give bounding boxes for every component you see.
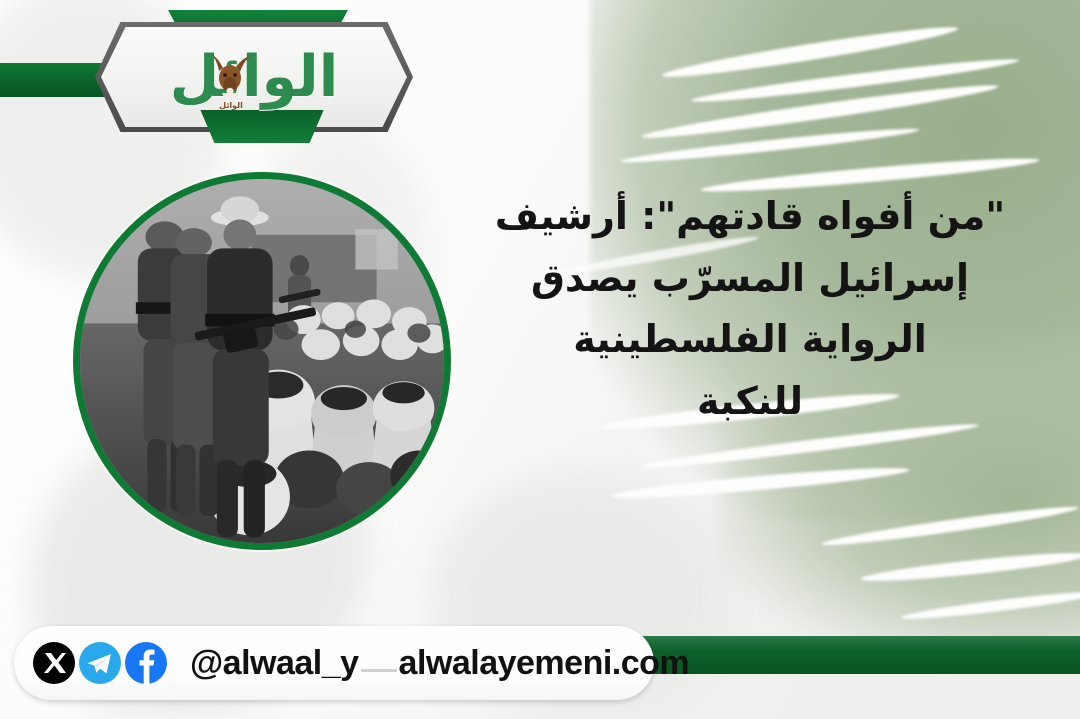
handle-separator [361, 669, 397, 672]
website-url[interactable]: alwalayemeni.com [399, 644, 690, 683]
news-card: الوائل الوائل [0, 0, 1080, 719]
headline-line: "من أفواه قادتهم": أرشيف [465, 186, 1035, 248]
headline-line: الرواية الفلسطينية [465, 309, 1035, 371]
footer-contact-bar: @alwaal_y alwalayemeni.com [14, 626, 654, 700]
brand-logo: الوائل الوائل [0, 0, 460, 160]
headline-line: إسرائيل المسرّب يصدق [465, 248, 1035, 310]
brand-subtitle: الوائل [196, 101, 266, 110]
headline-line: للنكبة [465, 371, 1035, 433]
photo-illustration [80, 179, 444, 543]
facebook-icon[interactable] [124, 641, 168, 685]
page-title: "من أفواه قادتهم": أرشيف إسرائيل المسرّب… [465, 186, 1035, 432]
x-twitter-icon[interactable] [32, 641, 76, 685]
contact-info: @alwaal_y alwalayemeni.com [190, 644, 689, 683]
social-icons [32, 641, 168, 685]
telegram-icon[interactable] [78, 641, 122, 685]
brand-name: الوائل [101, 27, 407, 127]
social-handle[interactable]: @alwaal_y [190, 644, 359, 683]
article-photo [73, 172, 451, 550]
